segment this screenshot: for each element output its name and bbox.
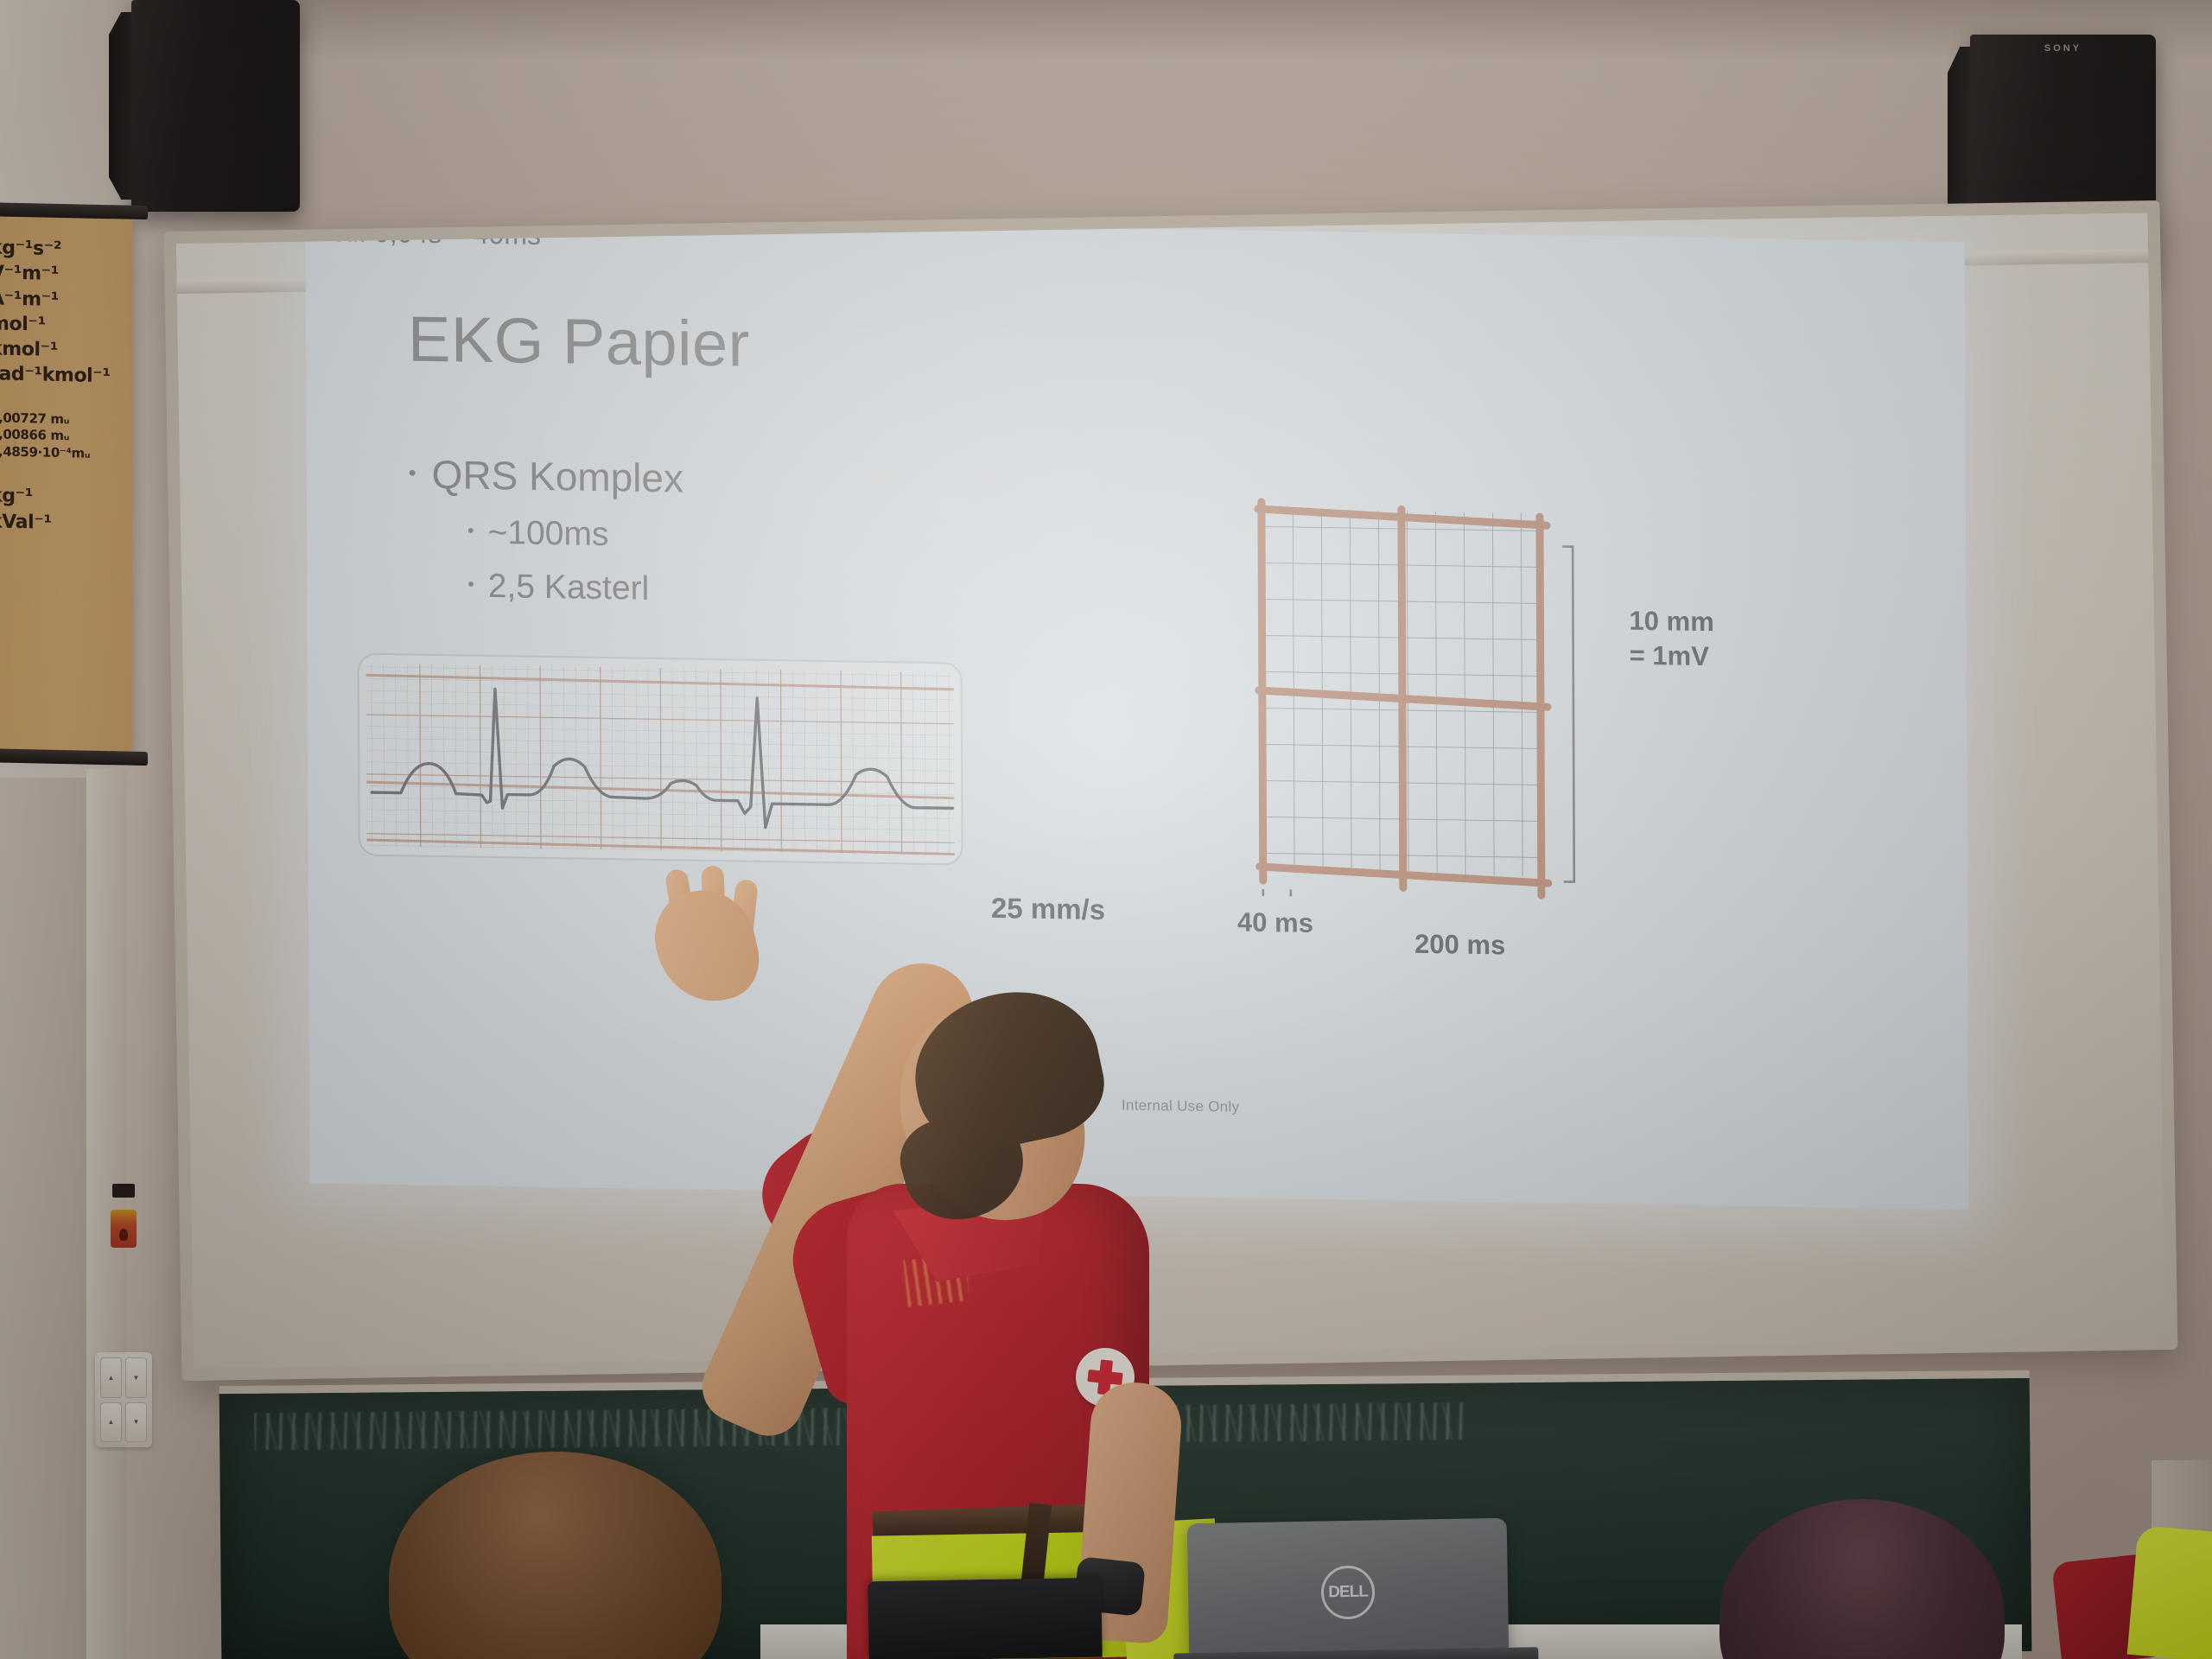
bullet-glyph: • xyxy=(409,463,416,485)
bullet-glyph: • xyxy=(467,522,474,541)
switch-row-top: ▲ ▼ xyxy=(100,1357,147,1398)
screen-down-button[interactable]: ▼ xyxy=(125,1402,147,1443)
ecg-paper-grid-chart xyxy=(1236,490,1600,902)
speaker-right-brand: SONY xyxy=(2044,43,2082,54)
whiteboard-surface: EKG Papier • QRS Komplex • ~100ms • 2,5 … xyxy=(176,213,2165,1369)
wall-chart-group-1: kg⁻¹s⁻² V⁻¹m⁻¹ A⁻¹m⁻¹ mol⁻¹ kmol⁻¹ rad⁻¹… xyxy=(0,235,127,390)
chalk-writing xyxy=(254,1402,1464,1451)
wall-chart-line: kg⁻¹ xyxy=(0,484,127,512)
blind-up-button[interactable]: ▲ xyxy=(100,1357,122,1398)
bullet-level1: • QRS Komplex xyxy=(409,451,684,502)
wall-chart-top-rod xyxy=(0,202,148,219)
physics-constants-wall-chart: kg⁻¹s⁻² V⁻¹m⁻¹ A⁻¹m⁻¹ mol⁻¹ kmol⁻¹ rad⁻¹… xyxy=(0,214,132,753)
bullet-glyph: • xyxy=(467,575,474,594)
wall-chart-group-2: 1,00727 mᵤ 1,00866 mᵤ 5,4859·10⁻⁴mᵤ xyxy=(0,410,127,464)
label-amplitude-line2: = 1mV xyxy=(1630,638,1714,673)
label-amplitude-line1: 10 mm xyxy=(1629,604,1713,639)
tablet-on-desk[interactable] xyxy=(868,1578,1103,1659)
lecture-room-scene: SONY kg⁻¹s⁻² V⁻¹m⁻¹ A⁻¹m⁻¹ mol⁻¹ kmol⁻¹ … xyxy=(0,0,2212,1659)
blind-down-button[interactable]: ▼ xyxy=(125,1357,147,1398)
bullet-text: 2,5 Kasterl xyxy=(488,568,650,608)
bullet-level2: • ~100ms xyxy=(467,514,684,556)
label-large-box-duration: 200 ms xyxy=(1414,929,1505,962)
wall-chart-line: 5,4859·10⁻⁴mᵤ xyxy=(0,444,127,464)
wall-chart-line: A⁻¹m⁻¹ xyxy=(0,286,127,315)
bullet-level2: • 2,5 Kasterl xyxy=(467,568,684,609)
hivis-jacket xyxy=(2127,1525,2212,1659)
bullet-text: ~100ms xyxy=(487,514,608,554)
wall-chart-line: V⁻¹m⁻¹ xyxy=(0,261,127,289)
speaker-left xyxy=(131,0,300,212)
slide-title: EKG Papier xyxy=(408,302,750,381)
wall-chart-lines: kg⁻¹s⁻² V⁻¹m⁻¹ A⁻¹m⁻¹ mol⁻¹ kmol⁻¹ rad⁻¹… xyxy=(0,235,127,559)
ecg-paper-grid-diagram xyxy=(1236,490,1600,902)
label-paper-speed: 25 mm/s xyxy=(991,892,1105,926)
wall-chart-line: rad⁻¹kmol⁻¹ xyxy=(0,362,127,391)
bullet-text: QRS Komplex xyxy=(431,451,683,502)
screen-up-button[interactable]: ▲ xyxy=(100,1402,122,1443)
wall-chart-line: kVal⁻¹ xyxy=(0,509,127,537)
whiteboard-frame: EKG Papier • QRS Komplex • ~100ms • 2,5 … xyxy=(164,200,2178,1381)
laptop[interactable]: DELL xyxy=(1187,1518,1510,1659)
wall-chart-line: kg⁻¹s⁻² xyxy=(0,235,127,264)
wall-slot xyxy=(112,1184,135,1198)
emergency-key-switch[interactable] xyxy=(111,1210,137,1248)
wall-chart-line: kmol⁻¹ xyxy=(0,336,127,365)
slide-bullet-list: • QRS Komplex • ~100ms • 2,5 Kasterl xyxy=(409,451,684,609)
switch-row-bottom: ▲ ▼ xyxy=(100,1402,147,1443)
ecg-rhythm-strip-chart xyxy=(359,655,962,864)
wall-chart-group-3: kg⁻¹ kVal⁻¹ xyxy=(0,484,127,537)
wall-chart-line: mol⁻¹ xyxy=(0,311,127,340)
ceiling-shadow xyxy=(0,0,2212,60)
speaker-left-side xyxy=(109,12,131,200)
ecg-rhythm-strip-card xyxy=(358,653,963,866)
slide-footer: Internal Use Only xyxy=(1122,1096,1240,1116)
label-amplitude-scale: 10 mm = 1mV xyxy=(1629,604,1714,674)
projected-slide: EKG Papier • QRS Komplex • ~100ms • 2,5 … xyxy=(305,216,1968,1210)
label-small-box-duration: 40 ms xyxy=(1237,907,1313,939)
blind-control-switch-plate[interactable]: ▲ ▼ ▲ ▼ xyxy=(95,1352,152,1447)
